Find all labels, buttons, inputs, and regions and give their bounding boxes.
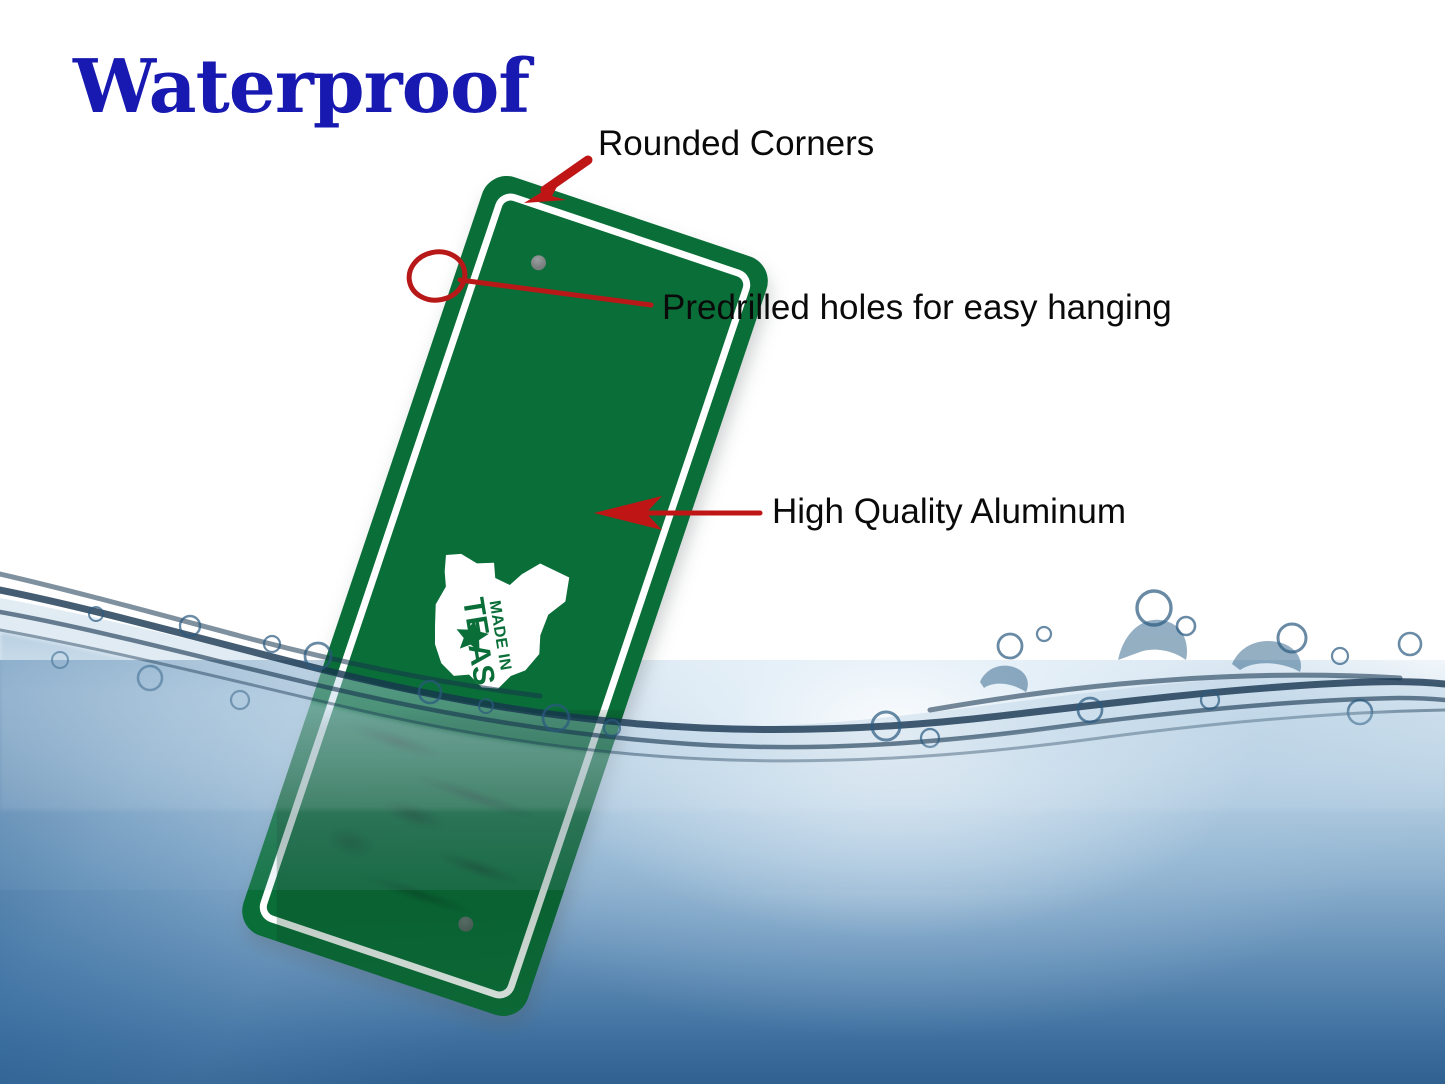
annotation-label-high-quality-aluminum: High Quality Aluminum [772,492,1126,532]
page-title: Waterproof [73,44,529,130]
water-surface-splash [0,560,1445,890]
annotation-label-predrilled-holes: Predrilled holes for easy hanging [662,288,1172,328]
water-foam-haze [0,632,1445,810]
water-bubbles [52,591,1421,747]
product-feature-image: MADE IN TE AS [0,0,1445,1084]
water-splash-peaks [980,620,1301,692]
svg-text:AS: AS [461,641,500,688]
water-crest [0,574,1445,761]
annotation-label-rounded-corners: Rounded Corners [598,124,874,164]
water-body [0,660,1445,1084]
water-surface-body [0,598,1445,890]
